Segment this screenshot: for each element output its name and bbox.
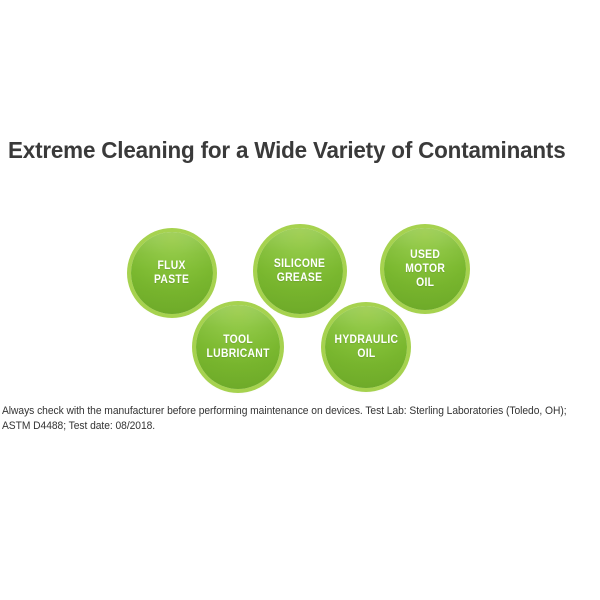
- bubble-used-motor-oil[interactable]: USED MOTOR OIL: [384, 228, 466, 310]
- bubble-flux-paste[interactable]: FLUX PASTE: [131, 232, 213, 314]
- bubble-silicone-grease[interactable]: SILICONE GREASE: [257, 228, 343, 314]
- bubble-label-silicone-grease: SILICONE GREASE: [274, 257, 325, 285]
- infographic-page: Extreme Cleaning for a Wide Variety of C…: [0, 0, 600, 600]
- bubble-label-tool-lubricant: TOOL LUBRICANT: [206, 333, 269, 361]
- bubble-label-hydraulic-oil: HYDRAULIC OIL: [334, 333, 398, 361]
- bubble-hydraulic-oil[interactable]: HYDRAULIC OIL: [325, 306, 407, 388]
- footnote-line-1: Always check with the manufacturer befor…: [2, 404, 580, 419]
- footnote-block: Always check with the manufacturer befor…: [2, 404, 580, 434]
- bubble-label-flux-paste: FLUX PASTE: [154, 259, 189, 287]
- bubble-label-used-motor-oil: USED MOTOR OIL: [405, 248, 445, 290]
- footnote-line-2: ASTM D4488; Test date: 08/2018.: [2, 419, 580, 434]
- bubble-diagram: FLUX PASTE SILICONE GREASE USED MOTOR OI…: [0, 0, 600, 600]
- bubble-tool-lubricant[interactable]: TOOL LUBRICANT: [196, 305, 280, 389]
